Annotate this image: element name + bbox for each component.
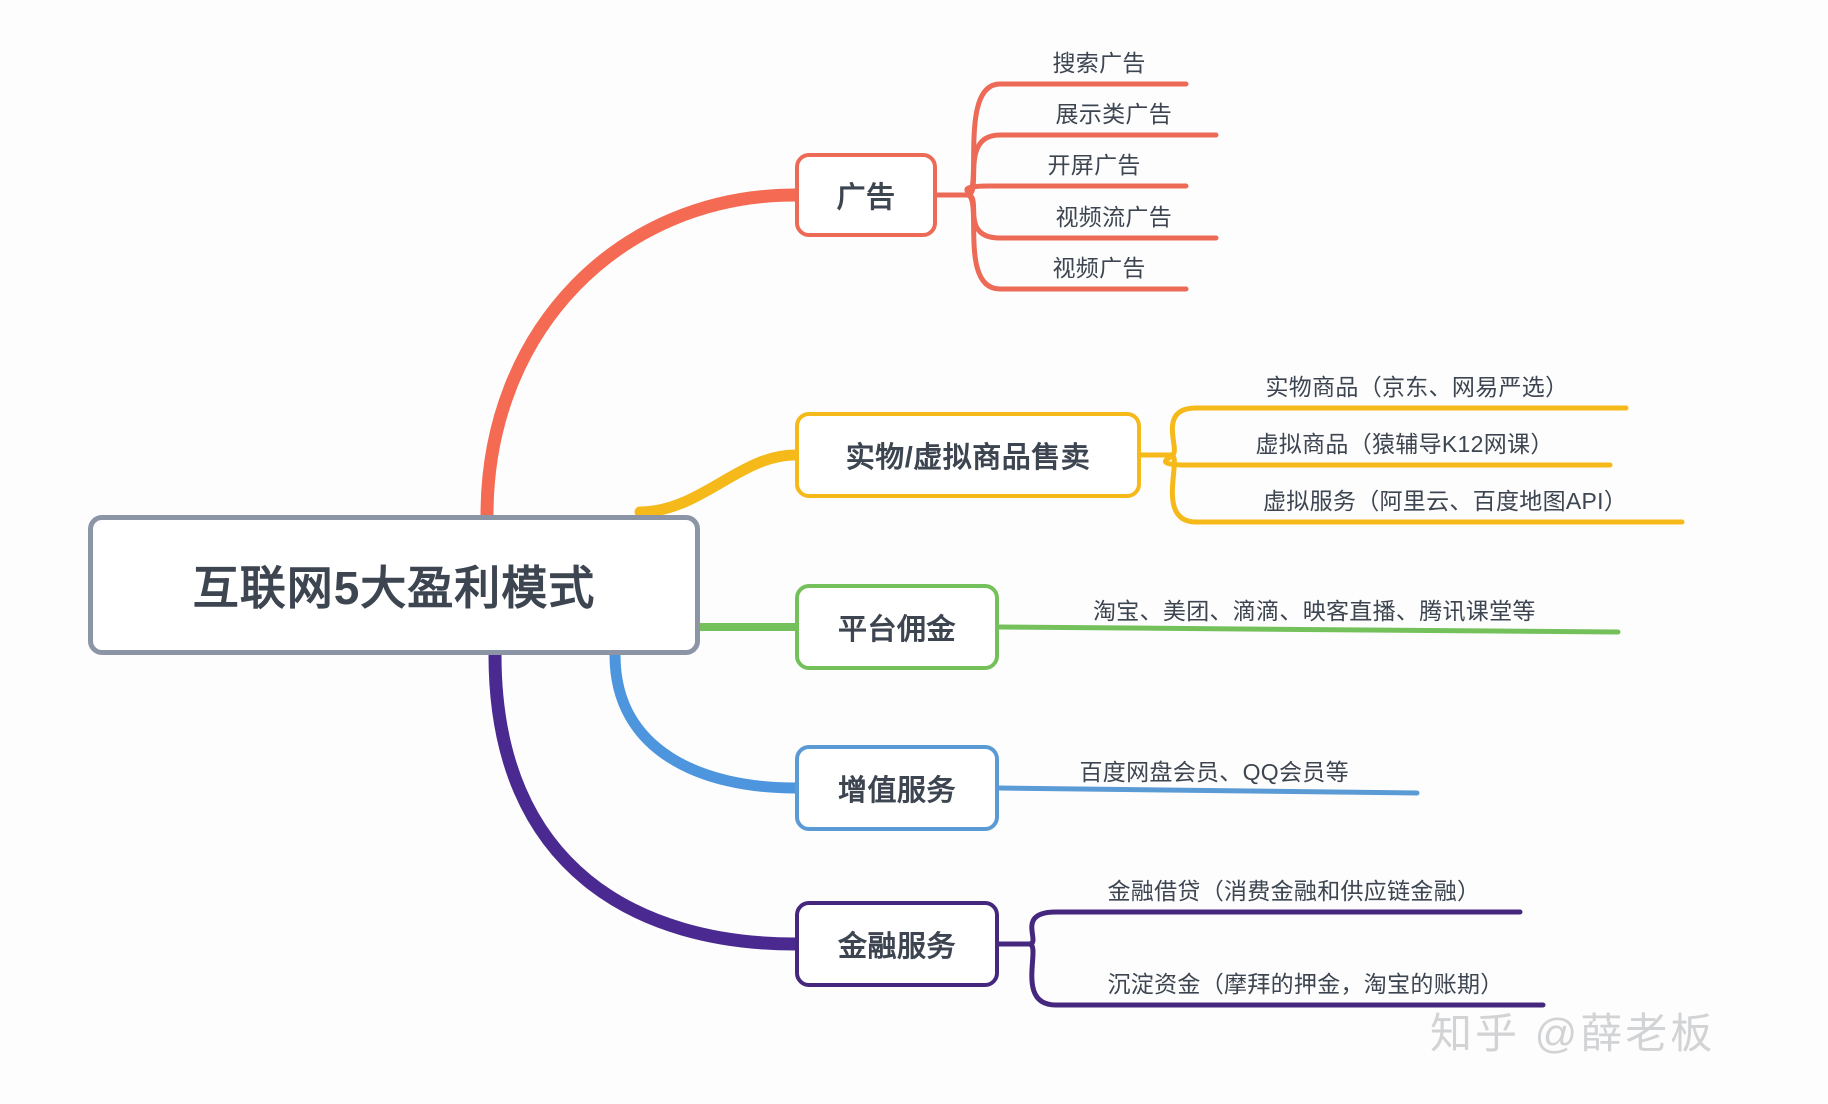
- watermark: 知乎 @薛老板: [1430, 1000, 1715, 1061]
- branch-node-label: 实物/虚拟商品售卖: [846, 434, 1091, 476]
- edge-goods-sales: [640, 455, 795, 512]
- edge-leaf-platform-commission-0: [999, 627, 1618, 632]
- mindmap-canvas: 互联网5大盈利模式 广告搜索广告展示类广告开屏广告视频流广告视频广告实物/虚拟商…: [0, 0, 1828, 1104]
- leaf-label[interactable]: 虚拟商品（猿辅导K12网课）: [1256, 425, 1554, 459]
- branch-node-financial-service[interactable]: 金融服务: [795, 901, 999, 987]
- root-node[interactable]: 互联网5大盈利模式: [88, 515, 700, 655]
- edge-leaf-advertising-2: [967, 186, 1186, 195]
- edge-financial-service: [495, 655, 795, 944]
- leaf-label[interactable]: 金融借贷（消费金融和供应链金融）: [1108, 872, 1481, 906]
- branch-node-goods-sales[interactable]: 实物/虚拟商品售卖: [795, 412, 1141, 498]
- leaf-label[interactable]: 展示类广告: [1056, 95, 1173, 129]
- branch-node-label: 广告: [836, 174, 895, 216]
- edge-leaf-value-added-service-0: [999, 788, 1417, 793]
- leaf-label[interactable]: 百度网盘会员、QQ会员等: [1080, 753, 1349, 787]
- leaf-label[interactable]: 虚拟服务（阿里云、百度地图API）: [1263, 482, 1627, 516]
- leaf-label[interactable]: 搜索广告: [1053, 44, 1146, 78]
- leaf-label[interactable]: 开屏广告: [1048, 146, 1141, 180]
- leaf-label[interactable]: 实物商品（京东、网易严选）: [1266, 368, 1569, 402]
- leaf-label[interactable]: 视频流广告: [1056, 198, 1173, 232]
- branch-node-platform-commission[interactable]: 平台佣金: [795, 584, 999, 670]
- leaf-label[interactable]: 淘宝、美团、滴滴、映客直播、腾讯课堂等: [1093, 592, 1536, 626]
- branch-node-label: 金融服务: [838, 923, 956, 965]
- leaf-label[interactable]: 视频广告: [1053, 249, 1146, 283]
- branch-node-advertising[interactable]: 广告: [795, 153, 937, 237]
- leaf-label[interactable]: 沉淀资金（摩拜的押金，淘宝的账期）: [1108, 965, 1504, 999]
- branch-node-value-added-service[interactable]: 增值服务: [795, 745, 999, 831]
- branch-node-label: 平台佣金: [838, 606, 956, 648]
- edge-advertising: [487, 195, 795, 515]
- branch-node-label: 增值服务: [838, 767, 956, 809]
- edge-value-added-service: [615, 655, 795, 788]
- root-node-label: 互联网5大盈利模式: [193, 552, 596, 618]
- edge-leaf-financial-service-0: [1029, 912, 1520, 944]
